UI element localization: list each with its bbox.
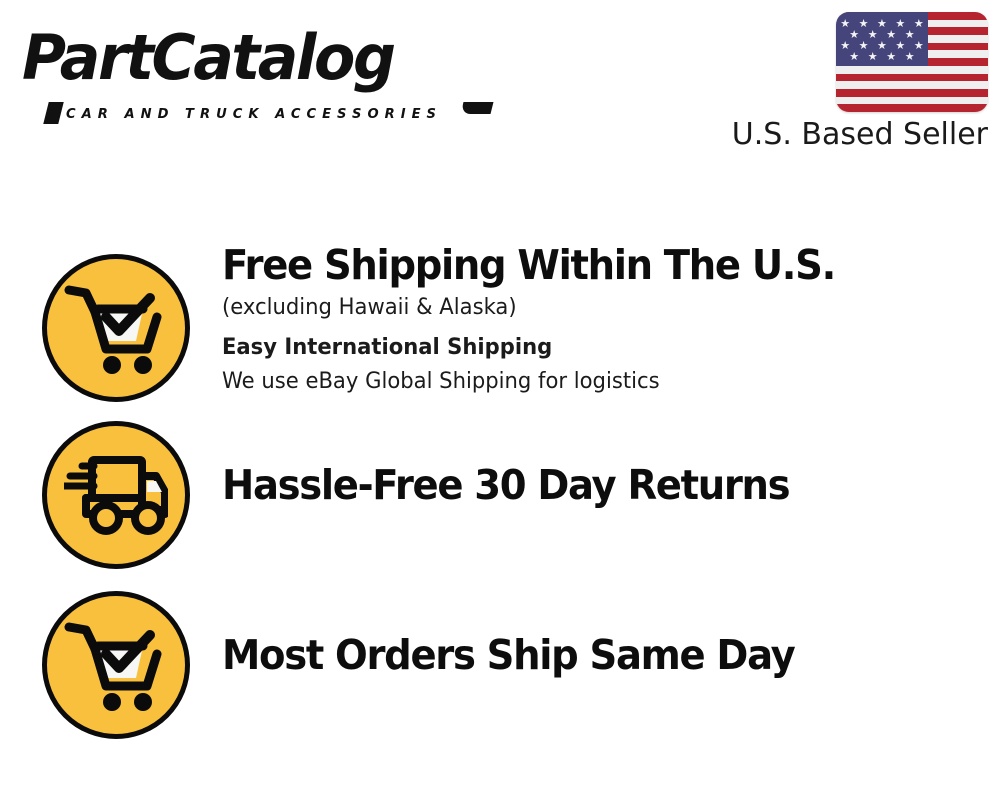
feature-heading: Most Orders Ship Same Day [222, 629, 935, 681]
feature-subdetail: We use eBay Global Shipping for logistic… [222, 365, 950, 399]
feature-text-block: Free Shipping Within The U.S. (excluding… [222, 239, 980, 399]
feature-subheading: Easy International Shipping [222, 331, 950, 365]
feature-item-free-shipping: Free Shipping Within The U.S. (excluding… [0, 249, 1000, 415]
shopping-cart-check-icon [42, 254, 190, 402]
feature-heading: Hassle-Free 30 Day Returns [222, 459, 935, 511]
delivery-truck-icon [42, 421, 190, 569]
feature-list: Free Shipping Within The U.S. (excluding… [0, 0, 1000, 800]
feature-subnote: (excluding Hawaii & Alaska) [222, 291, 950, 325]
feature-heading: Free Shipping Within The U.S. [222, 239, 935, 291]
feature-text-block: Most Orders Ship Same Day [222, 629, 980, 681]
feature-item-same-day: Most Orders Ship Same Day [0, 591, 1000, 741]
shopping-cart-check-icon [42, 591, 190, 739]
feature-item-returns: Hassle-Free 30 Day Returns [0, 421, 1000, 571]
feature-text-block: Hassle-Free 30 Day Returns [222, 459, 980, 511]
